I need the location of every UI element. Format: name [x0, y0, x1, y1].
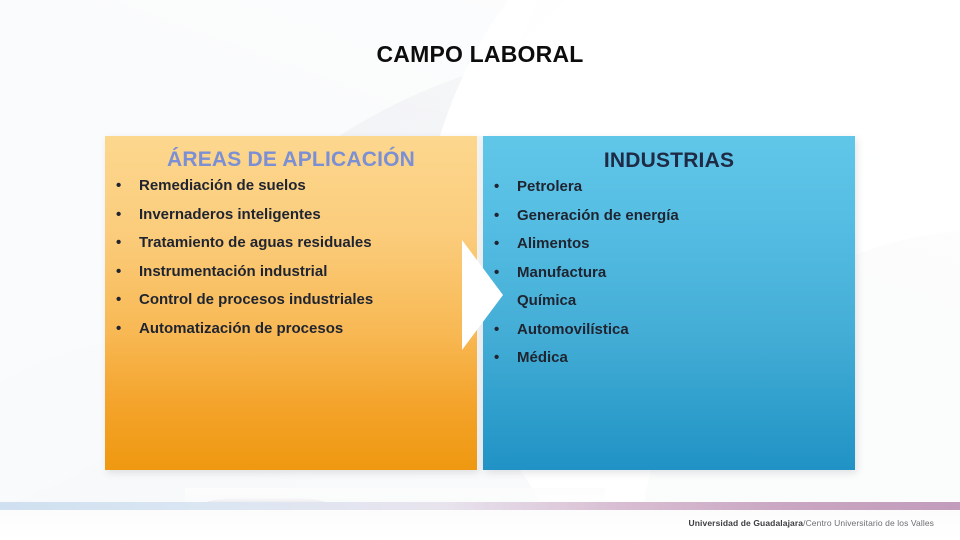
right-arrow-icon: [462, 240, 503, 350]
page-title: CAMPO LABORAL: [0, 41, 960, 68]
footer-credit: Universidad de Guadalajara/Centro Univer…: [689, 518, 934, 528]
list-item: Remediación de suelos: [105, 172, 477, 201]
areas-list: Remediación de suelos Invernaderos intel…: [105, 172, 477, 343]
list-item: Invernaderos inteligentes: [105, 201, 477, 230]
footer-campus: Centro Universitario de los Valles: [806, 518, 934, 528]
slide-canvas: CAMPO LABORAL ÁREAS DE APLICACIÓN Remedi…: [0, 0, 960, 540]
list-item: Alimentos: [483, 230, 855, 259]
industries-panel: INDUSTRIAS Petrolera Generación de energ…: [483, 136, 855, 470]
list-item: Manufactura: [483, 259, 855, 288]
list-item: Automovilística: [483, 316, 855, 345]
list-item: Automatización de procesos: [105, 315, 477, 344]
list-item: Generación de energía: [483, 202, 855, 231]
list-item: Química: [483, 287, 855, 316]
list-item: Médica: [483, 344, 855, 373]
list-item: Control de procesos industriales: [105, 286, 477, 315]
industries-panel-heading: INDUSTRIAS: [483, 149, 855, 173]
list-item: Petrolera: [483, 173, 855, 202]
areas-panel-heading: ÁREAS DE APLICACIÓN: [105, 148, 477, 172]
footer-institution: Universidad de Guadalajara: [689, 518, 804, 528]
industries-list: Petrolera Generación de energía Alimento…: [483, 173, 855, 373]
list-item: Tratamiento de aguas residuales: [105, 229, 477, 258]
list-item: Instrumentación industrial: [105, 258, 477, 287]
footer-color-band: [0, 502, 960, 510]
areas-panel: ÁREAS DE APLICACIÓN Remediación de suelo…: [105, 136, 477, 470]
